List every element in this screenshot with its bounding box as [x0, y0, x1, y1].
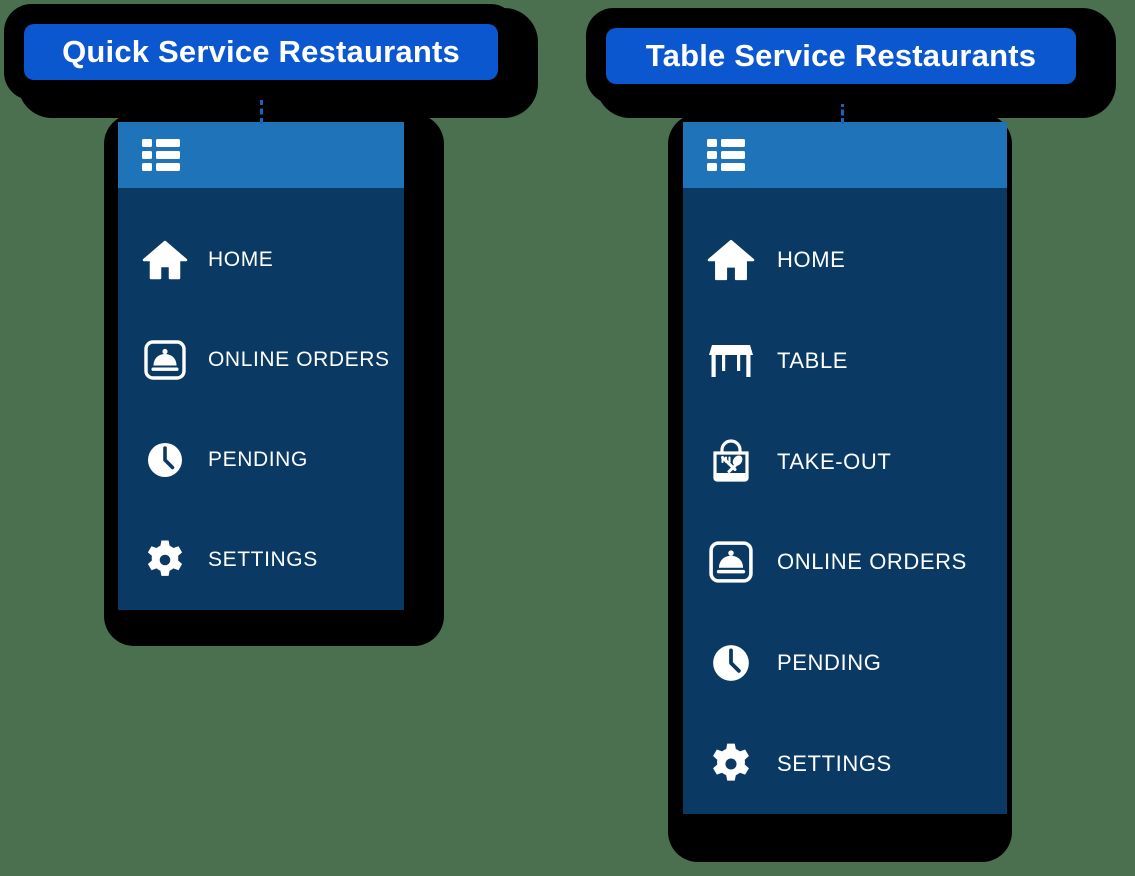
diagram-canvas: Quick Service Restaurants [0, 0, 1135, 876]
qsr-connector-line [260, 80, 263, 124]
tsr-menu-item-settings[interactable]: SETTINGS [683, 713, 1007, 814]
list-menu-icon[interactable] [707, 139, 745, 171]
tsr-menu-item-home[interactable]: HOME [683, 210, 1007, 311]
service-bell-icon [707, 538, 755, 586]
tsr-menu-item-pending[interactable]: PENDING [683, 613, 1007, 714]
tsr-menu-label-home: HOME [777, 247, 845, 273]
tsr-menu-label-online-orders: ONLINE ORDERS [777, 549, 967, 575]
tsr-appbar [683, 122, 1007, 188]
table-icon [707, 337, 755, 385]
tsr-connector-line [841, 84, 844, 124]
qsr-menu-label-pending: PENDING [208, 448, 308, 472]
qsr-menu-item-online-orders[interactable]: ONLINE ORDERS [118, 310, 404, 410]
clock-icon [142, 437, 188, 483]
home-icon [707, 236, 755, 284]
tsr-menu-item-take-out[interactable]: TAKE-OUT [683, 411, 1007, 512]
qsr-menu-item-home[interactable]: HOME [118, 210, 404, 310]
gear-icon [142, 537, 188, 583]
tsr-menu-label-take-out: TAKE-OUT [777, 449, 891, 475]
takeout-bag-icon [707, 438, 755, 486]
tsr-callout-label: Table Service Restaurants [606, 28, 1076, 84]
qsr-callout-label: Quick Service Restaurants [24, 24, 498, 80]
list-menu-icon[interactable] [142, 139, 180, 171]
tsr-menu-item-table[interactable]: TABLE [683, 311, 1007, 412]
qsr-menu-list: HOME ONLINE ORDERS [118, 188, 404, 610]
qsr-menu-label-online-orders: ONLINE ORDERS [208, 348, 390, 372]
tsr-callout-text: Table Service Restaurants [646, 38, 1036, 74]
tsr-menu-label-pending: PENDING [777, 650, 881, 676]
qsr-menu-label-home: HOME [208, 248, 273, 272]
qsr-callout-text: Quick Service Restaurants [62, 34, 460, 70]
qsr-menu-label-settings: SETTINGS [208, 548, 318, 572]
tsr-menu-label-table: TABLE [777, 348, 848, 374]
gear-icon [707, 740, 755, 788]
tsr-menu-list: HOME TABLE [683, 188, 1007, 814]
clock-icon [707, 639, 755, 687]
tsr-phone-screen: HOME TABLE [683, 122, 1007, 814]
qsr-appbar [118, 122, 404, 188]
qsr-phone-screen: HOME ONLINE ORDERS [118, 122, 404, 610]
home-icon [142, 237, 188, 283]
tsr-menu-label-settings: SETTINGS [777, 751, 892, 777]
qsr-menu-item-settings[interactable]: SETTINGS [118, 510, 404, 610]
qsr-menu-item-pending[interactable]: PENDING [118, 410, 404, 510]
tsr-menu-item-online-orders[interactable]: ONLINE ORDERS [683, 512, 1007, 613]
service-bell-icon [142, 337, 188, 383]
